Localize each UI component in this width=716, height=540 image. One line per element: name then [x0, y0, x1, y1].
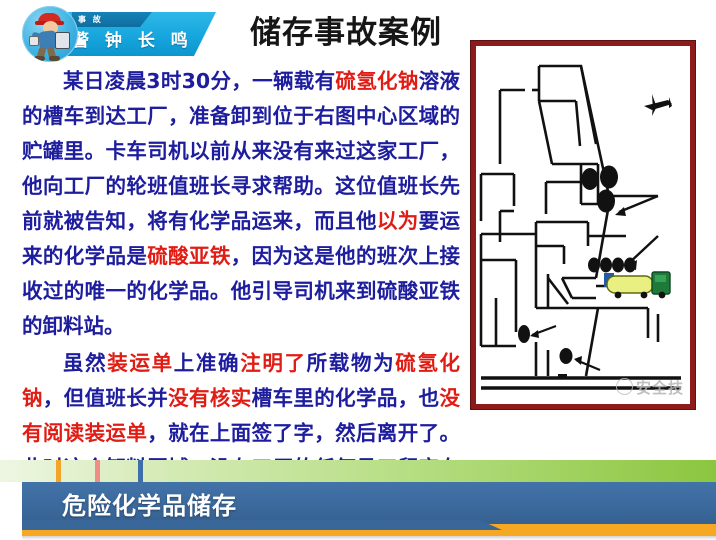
- text-run: 上准确: [174, 351, 240, 375]
- tanker-truck-icon: [604, 272, 670, 298]
- text-run: ，但值班长并: [43, 386, 168, 410]
- badge-subtitle: 事 故: [78, 12, 148, 27]
- footer-orange-notch: [22, 520, 502, 530]
- footer-tick-blue: [138, 460, 143, 482]
- text-run: 注明了: [240, 351, 306, 375]
- footer-shadow: [22, 536, 716, 540]
- text-run: 没有核实: [168, 386, 252, 410]
- hazard-marker-a: [518, 325, 556, 343]
- safety-worker-icon: [22, 6, 78, 62]
- badge-title: 警 钟 长 鸣: [72, 28, 212, 54]
- footer-section-label: 危险化学品储存: [62, 490, 482, 522]
- text-run: 所载物为: [307, 351, 396, 375]
- aircraft-symbol-icon: [644, 94, 672, 116]
- text-run: 某日凌晨3时30分，一辆载有: [63, 69, 335, 93]
- accident-alert-badge: 事 故 警 钟 长 鸣: [14, 4, 224, 62]
- watermark-logo-icon: [616, 378, 633, 395]
- hazard-marker-b: [560, 348, 601, 370]
- footer-green-strip: [0, 460, 716, 482]
- text-run: 虽然: [63, 351, 107, 375]
- text-run: 硫氢化钠: [335, 69, 418, 93]
- diagram-vector: [476, 46, 690, 404]
- text-run: 槽车里的化学品，也: [252, 386, 440, 410]
- text-run: 硫酸亚铁: [147, 244, 231, 268]
- text-run: 以为: [377, 209, 419, 233]
- storage-tank-cluster: [582, 166, 619, 213]
- footer-tick-pink: [95, 460, 100, 482]
- diagram-watermark: 安全技: [616, 377, 684, 398]
- plant-site-layout-diagram: 安全技: [471, 41, 695, 409]
- paragraph-one: 某日凌晨3时30分，一辆载有硫氢化钠溶液的槽车到达工厂，准备卸到位于右图中心区域…: [22, 64, 460, 344]
- text-run: 装运单: [107, 351, 173, 375]
- footer-tick-orange: [56, 460, 61, 482]
- case-description-text: 某日凌晨3时30分，一辆载有硫氢化钠溶液的槽车到达工厂，准备卸到位于右图中心区域…: [22, 64, 460, 521]
